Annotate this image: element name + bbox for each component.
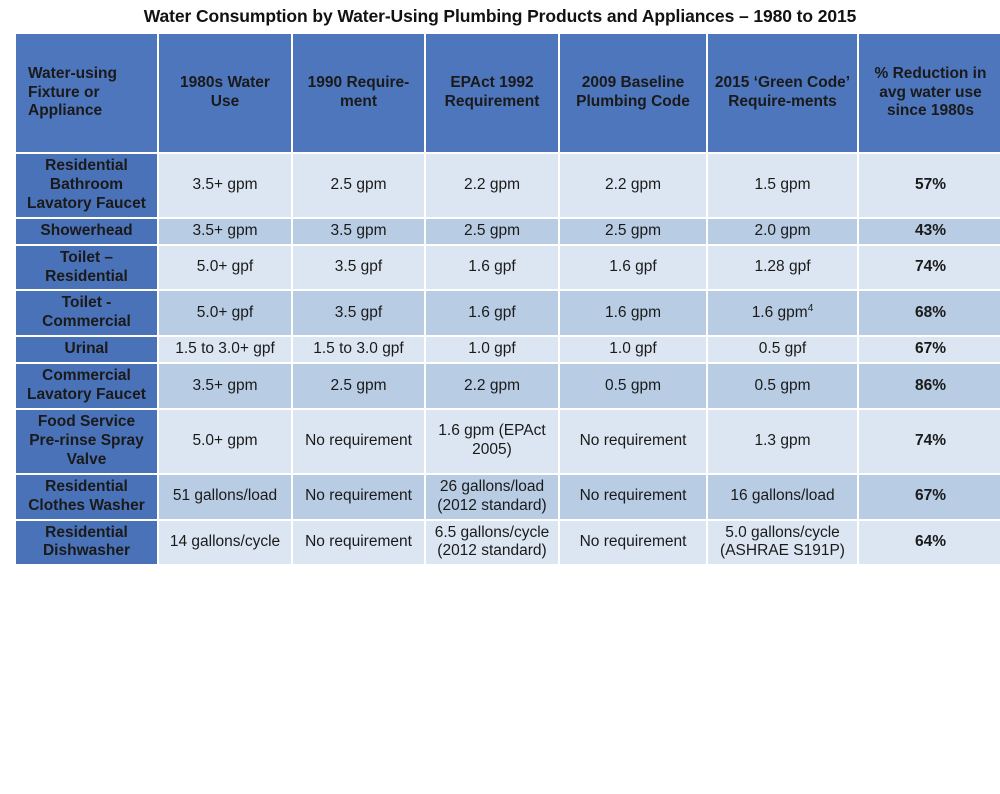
cell-epact-1992: 2.2 gpm (426, 364, 558, 408)
cell-2009-code: No requirement (560, 410, 706, 473)
cell-percent-reduction: 74% (859, 410, 1000, 473)
cell-1980s-use: 1.5 to 3.0+ gpf (159, 337, 291, 362)
page-title: Water Consumption by Water-Using Plumbin… (0, 6, 1000, 27)
cell-1990-requirement: 3.5 gpm (293, 219, 424, 244)
table-body: Residential Bathroom Lavatory Faucet3.5+… (16, 154, 1000, 564)
cell-percent-reduction: 74% (859, 246, 1000, 290)
cell-epact-1992: 6.5 gallons/cycle (2012 standard) (426, 521, 558, 565)
cell-1980s-use: 14 gallons/cycle (159, 521, 291, 565)
header-row: Water-using Fixture or Appliance 1980s W… (16, 34, 1000, 152)
cell-1980s-use: 51 gallons/load (159, 475, 291, 519)
cell-percent-reduction: 43% (859, 219, 1000, 244)
cell-epact-1992: 1.6 gpm (EPAct 2005) (426, 410, 558, 473)
cell-1990-requirement: 2.5 gpm (293, 364, 424, 408)
cell-1990-requirement: 1.5 to 3.0 gpf (293, 337, 424, 362)
column-header-1990-requirement: 1990 Require-ment (293, 34, 424, 152)
cell-2015-green-code: 0.5 gpm (708, 364, 857, 408)
row-header-fixture: Food Service Pre-rinse Spray Valve (16, 410, 157, 473)
cell-1980s-use: 5.0+ gpf (159, 291, 291, 335)
cell-1980s-use: 3.5+ gpm (159, 219, 291, 244)
cell-2009-code: 1.6 gpm (560, 291, 706, 335)
cell-2015-green-code: 1.6 gpm4 (708, 291, 857, 335)
cell-percent-reduction: 86% (859, 364, 1000, 408)
cell-2009-code: 1.0 gpf (560, 337, 706, 362)
cell-2009-code: No requirement (560, 521, 706, 565)
cell-2009-code: 0.5 gpm (560, 364, 706, 408)
row-header-fixture: Toilet - Commercial (16, 291, 157, 335)
cell-1990-requirement: 3.5 gpf (293, 291, 424, 335)
water-consumption-table: Water-using Fixture or Appliance 1980s W… (14, 32, 1000, 566)
cell-1980s-use: 3.5+ gpm (159, 154, 291, 217)
cell-2009-code: 1.6 gpf (560, 246, 706, 290)
row-header-fixture: Urinal (16, 337, 157, 362)
column-header-fixture: Water-using Fixture or Appliance (16, 34, 157, 152)
table-row: Commercial Lavatory Faucet3.5+ gpm2.5 gp… (16, 364, 1000, 408)
table-row: Residential Bathroom Lavatory Faucet3.5+… (16, 154, 1000, 217)
table-row: Urinal1.5 to 3.0+ gpf1.5 to 3.0 gpf1.0 g… (16, 337, 1000, 362)
row-header-fixture: Toilet – Residential (16, 246, 157, 290)
column-header-percent-reduction: % Reduction in avg water use since 1980s (859, 34, 1000, 152)
table-row: Toilet – Residential5.0+ gpf3.5 gpf1.6 g… (16, 246, 1000, 290)
cell-1980s-use: 3.5+ gpm (159, 364, 291, 408)
cell-1990-requirement: No requirement (293, 475, 424, 519)
cell-2015-green-code: 0.5 gpf (708, 337, 857, 362)
column-header-1980s-use: 1980s Water Use (159, 34, 291, 152)
cell-2015-green-code: 5.0 gallons/cycle (ASHRAE S191P) (708, 521, 857, 565)
page-root: Water Consumption by Water-Using Plumbin… (0, 0, 1000, 794)
cell-1980s-use: 5.0+ gpf (159, 246, 291, 290)
cell-1980s-use: 5.0+ gpm (159, 410, 291, 473)
cell-2009-code: No requirement (560, 475, 706, 519)
cell-epact-1992: 1.0 gpf (426, 337, 558, 362)
column-header-2009-baseline-code: 2009 Baseline Plumbing Code (560, 34, 706, 152)
row-header-fixture: Residential Bathroom Lavatory Faucet (16, 154, 157, 217)
cell-epact-1992: 1.6 gpf (426, 291, 558, 335)
cell-epact-1992: 2.5 gpm (426, 219, 558, 244)
row-header-fixture: Commercial Lavatory Faucet (16, 364, 157, 408)
cell-percent-reduction: 64% (859, 521, 1000, 565)
table-row: Food Service Pre-rinse Spray Valve5.0+ g… (16, 410, 1000, 473)
cell-2015-green-code: 1.5 gpm (708, 154, 857, 217)
table-header: Water-using Fixture or Appliance 1980s W… (16, 34, 1000, 152)
cell-1990-requirement: 3.5 gpf (293, 246, 424, 290)
cell-epact-1992: 26 gallons/load (2012 standard) (426, 475, 558, 519)
cell-2009-code: 2.5 gpm (560, 219, 706, 244)
row-header-fixture: Showerhead (16, 219, 157, 244)
cell-1990-requirement: 2.5 gpm (293, 154, 424, 217)
table-row: Residential Dishwasher14 gallons/cycleNo… (16, 521, 1000, 565)
footnote-marker: 4 (808, 303, 814, 314)
cell-1990-requirement: No requirement (293, 521, 424, 565)
table-row: Toilet - Commercial5.0+ gpf3.5 gpf1.6 gp… (16, 291, 1000, 335)
cell-epact-1992: 1.6 gpf (426, 246, 558, 290)
cell-percent-reduction: 67% (859, 337, 1000, 362)
cell-epact-1992: 2.2 gpm (426, 154, 558, 217)
cell-percent-reduction: 68% (859, 291, 1000, 335)
cell-percent-reduction: 57% (859, 154, 1000, 217)
cell-2015-green-code: 16 gallons/load (708, 475, 857, 519)
row-header-fixture: Residential Clothes Washer (16, 475, 157, 519)
cell-percent-reduction: 67% (859, 475, 1000, 519)
cell-1990-requirement: No requirement (293, 410, 424, 473)
cell-2015-green-code: 2.0 gpm (708, 219, 857, 244)
column-header-epact-1992: EPAct 1992 Requirement (426, 34, 558, 152)
cell-2009-code: 2.2 gpm (560, 154, 706, 217)
table-row: Residential Clothes Washer51 gallons/loa… (16, 475, 1000, 519)
cell-2015-green-code: 1.3 gpm (708, 410, 857, 473)
cell-2015-green-code: 1.28 gpf (708, 246, 857, 290)
column-header-2015-green-code: 2015 ‘Green Code’ Require-ments (708, 34, 857, 152)
table-row: Showerhead3.5+ gpm3.5 gpm2.5 gpm2.5 gpm2… (16, 219, 1000, 244)
row-header-fixture: Residential Dishwasher (16, 521, 157, 565)
